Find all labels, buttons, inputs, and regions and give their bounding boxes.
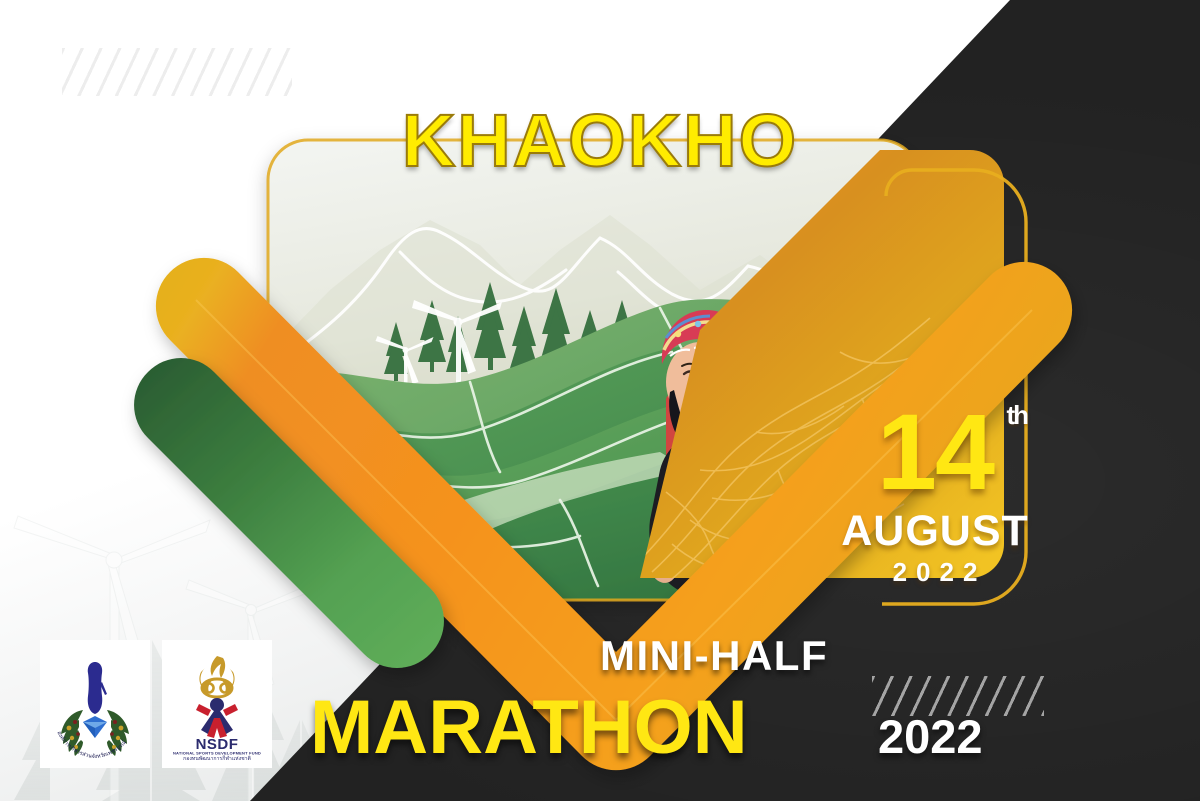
date-month: AUGUST <box>830 510 1040 553</box>
marathon-poster: FINISH <box>0 0 1200 801</box>
nsdf-icon: NSDF NATIONAL SPORTS DEVELOPMENT FUND กอ… <box>167 648 267 760</box>
page-title: KHAOKHO <box>0 98 1200 183</box>
event-subtitle: MINI-HALF <box>600 632 828 680</box>
provincial-emblem-icon: องค์การบริหารส่วนจังหวัดเพชรบูรณ์ <box>45 648 145 760</box>
event-main-title: MARATHON <box>310 684 748 771</box>
logo-nsdf: NSDF NATIONAL SPORTS DEVELOPMENT FUND กอ… <box>162 640 272 768</box>
event-main-title-year: 2022 <box>878 709 983 764</box>
date-ordinal-suffix: th <box>1007 402 1028 428</box>
logo-provincial-emblem: องค์การบริหารส่วนจังหวัดเพชรบูรณ์ <box>40 640 150 768</box>
svg-text:กองทุนพัฒนาการกีฬาแห่งชาติ: กองทุนพัฒนาการกีฬาแห่งชาติ <box>183 755 251 760</box>
date-year: 2022 <box>830 559 1040 585</box>
date-day: 14th <box>877 398 993 506</box>
event-date: 14th AUGUST 2022 <box>830 398 1040 585</box>
sponsor-logos: องค์การบริหารส่วนจังหวัดเพชรบูรณ์ <box>40 640 272 768</box>
svg-text:NATIONAL SPORTS DEVELOPMENT FU: NATIONAL SPORTS DEVELOPMENT FUND <box>173 751 261 756</box>
